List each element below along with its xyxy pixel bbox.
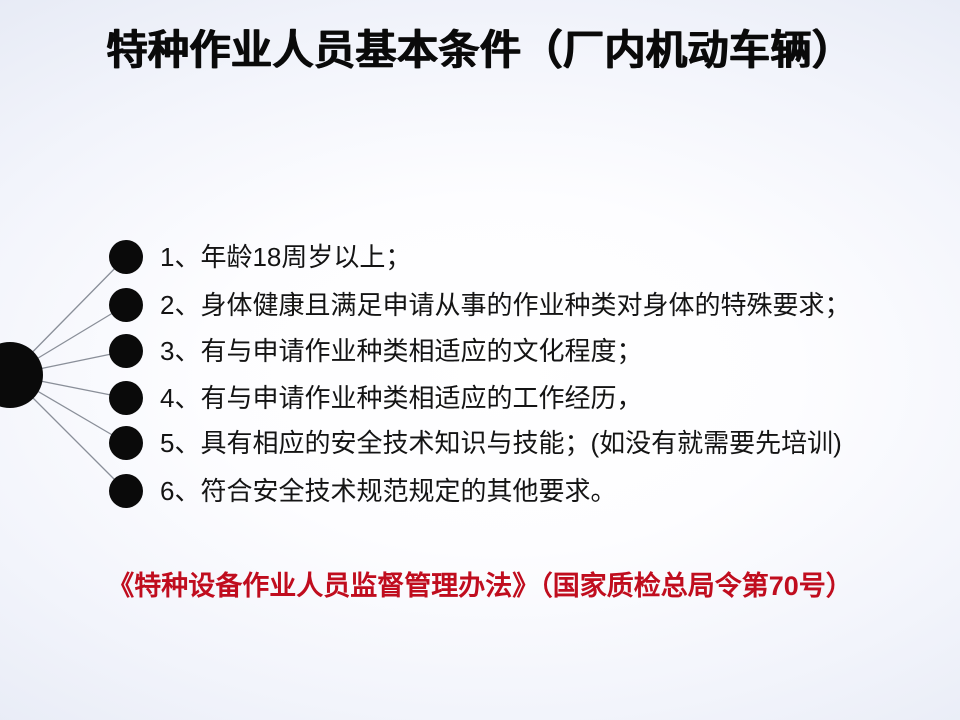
list-item: 5、具有相应的安全技术知识与技能；(如没有就需要先培训) — [160, 419, 842, 467]
list-item-text: 6、符合安全技术规范规定的其他要求。 — [160, 474, 616, 508]
slide-canvas: 特种作业人员基本条件（厂内机动车辆） 1、年龄18周岁以上；2、身体健康且满足申… — [0, 0, 960, 720]
list-item-text: 2、身体健康且满足申请从事的作业种类对身体的特殊要求； — [160, 288, 850, 322]
list-item: 6、符合安全技术规范规定的其他要求。 — [160, 467, 616, 515]
list-item: 1、年龄18周岁以上； — [160, 233, 411, 281]
footer-reference: 《特种设备作业人员监督管理办法》（国家质检总局令第70号） — [0, 567, 960, 605]
list-item-text: 1、年龄18周岁以上； — [160, 240, 411, 274]
list-item-text: 4、有与申请作业种类相适应的工作经历， — [160, 381, 642, 415]
list-item: 3、有与申请作业种类相适应的文化程度； — [160, 327, 642, 375]
list-item-text: 3、有与申请作业种类相适应的文化程度； — [160, 334, 642, 368]
condition-list: 1、年龄18周岁以上；2、身体健康且满足申请从事的作业种类对身体的特殊要求；3、… — [0, 0, 960, 720]
list-item: 4、有与申请作业种类相适应的工作经历， — [160, 374, 642, 422]
list-item: 2、身体健康且满足申请从事的作业种类对身体的特殊要求； — [160, 281, 850, 329]
list-item-text: 5、具有相应的安全技术知识与技能；(如没有就需要先培训) — [160, 426, 842, 460]
